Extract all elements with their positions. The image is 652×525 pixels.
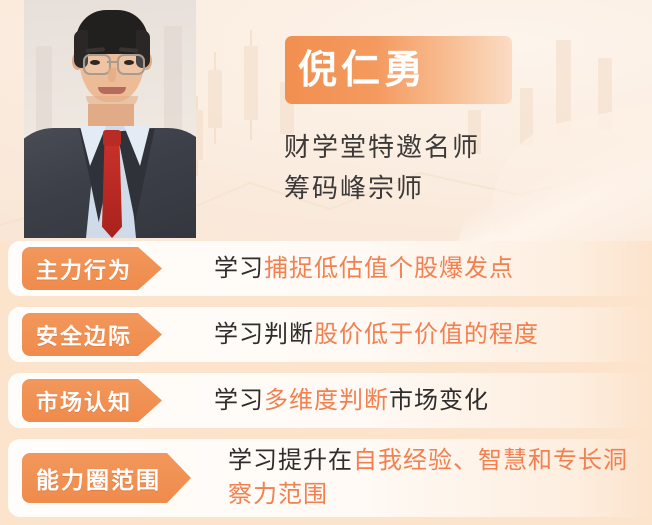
instructor-name-badge: 倪仁勇 — [285, 36, 512, 104]
feature-tag: 安全边际 — [22, 313, 162, 356]
subtitle-line-1: 财学堂特邀名师 — [284, 127, 614, 168]
feature-tag: 能力圈范围 — [22, 453, 191, 503]
instructor-name: 倪仁勇 — [298, 51, 427, 90]
feature-text-plain: 学习 — [214, 384, 264, 418]
feature-tag: 市场认知 — [22, 379, 162, 422]
feature-text-highlight: 多维度判断 — [264, 384, 389, 418]
feature-tag: 主力行为 — [22, 247, 162, 290]
chin-shading — [86, 96, 138, 108]
feature-rows-list: 主力行为 学习捕捉低估值个股爆发点 安全边际 学习判断股价低于价值的程度 市场认… — [0, 241, 652, 525]
feature-text-plain: 学习判断 — [214, 318, 314, 352]
feature-tag-label: 安全边际 — [36, 319, 132, 351]
feature-tag-label: 市场认知 — [36, 385, 132, 417]
feature-row: 能力圈范围 学习提升在自我经验、智慧和专长洞察力范围 — [0, 439, 652, 517]
subtitle-line-2: 筹码峰宗师 — [284, 168, 614, 209]
feature-tag-label: 主力行为 — [36, 253, 132, 285]
eye-left — [90, 60, 100, 65]
feature-description: 学习多维度判断市场变化 — [214, 373, 646, 428]
feature-description: 学习捕捉低估值个股爆发点 — [214, 241, 646, 296]
collar-right — [124, 126, 150, 166]
eyeglasses-bridge — [107, 61, 117, 63]
necktie — [102, 144, 122, 238]
instructor-subtitle: 财学堂特邀名师 筹码峰宗师 — [284, 127, 614, 209]
mouth-shape — [98, 87, 126, 94]
feature-text-highlight: 捕捉低估值个股爆发点 — [264, 252, 514, 286]
instructor-promo-poster: 倪仁勇 财学堂特邀名师 筹码峰宗师 主力行为 学习捕捉低估值个股爆发点 安全边际… — [0, 0, 652, 525]
nose-shape — [108, 68, 116, 82]
feature-row: 安全边际 学习判断股价低于价值的程度 — [0, 307, 652, 362]
feature-text-plain: 学习提升在 — [228, 447, 353, 474]
feature-text-plain: 学习 — [214, 252, 264, 286]
feature-description: 学习提升在自我经验、智慧和专长洞察力范围 — [228, 439, 646, 517]
hero-section: 倪仁勇 财学堂特邀名师 筹码峰宗师 — [0, 0, 652, 241]
feature-row: 市场认知 学习多维度判断市场变化 — [0, 373, 652, 428]
feature-row: 主力行为 学习捕捉低估值个股爆发点 — [0, 241, 652, 296]
feature-tag-label: 能力圈范围 — [36, 461, 161, 495]
instructor-portrait-photo — [24, 0, 196, 238]
necktie-knot — [103, 130, 121, 146]
feature-description: 学习判断股价低于价值的程度 — [214, 307, 646, 362]
feature-text-highlight: 股价低于价值的程度 — [314, 318, 539, 352]
feature-text-plain-2: 市场变化 — [389, 384, 489, 418]
eye-right — [124, 60, 134, 65]
